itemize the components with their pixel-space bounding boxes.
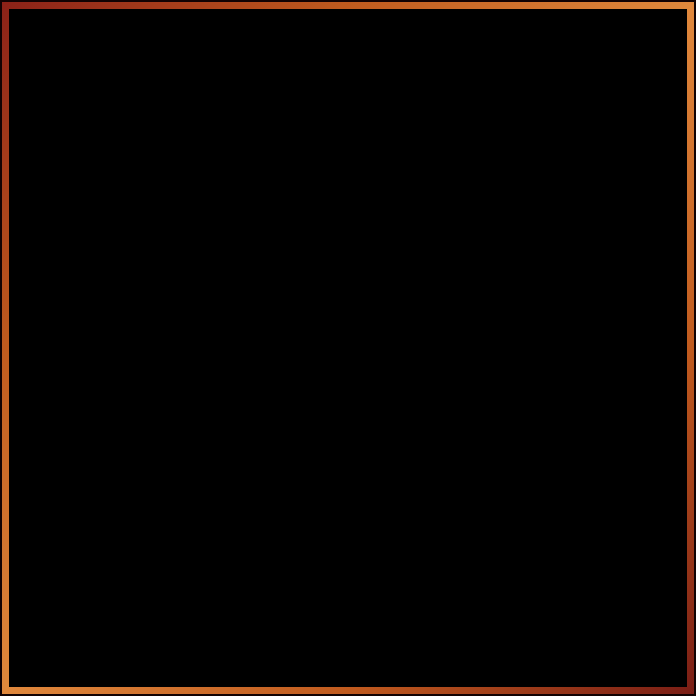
body-line: dust of defeat and give up the bbox=[28, 207, 676, 261]
body-line: You can remain sitting there in bbox=[28, 99, 676, 153]
footer-content: 1 Cor. 15:58 www.billkochman.com bbox=[28, 631, 598, 675]
footer-bar: 1 Cor. 15:58 www.billkochman.com bbox=[9, 625, 687, 687]
call-to-action-text: Fight, soldier! bbox=[28, 545, 252, 591]
website-url[interactable]: www.billkochman.com bbox=[248, 631, 598, 675]
meme-poster: WHAT ARE YOU GOING TO DO? You can remain… bbox=[0, 0, 696, 696]
body-line: Grace and march bbox=[28, 369, 676, 423]
body-line: again. So which bbox=[28, 423, 676, 477]
poster-canvas: WHAT ARE YOU GOING TO DO? You can remain… bbox=[9, 9, 687, 687]
scripture-reference: 1 Cor. 15:58 bbox=[28, 631, 222, 675]
body-line: fight. Or you can get bbox=[28, 261, 676, 315]
page-title: WHAT ARE YOU GOING TO DO? bbox=[28, 28, 668, 72]
body-text: You can remain sitting there in your bac… bbox=[28, 99, 676, 531]
body-line: will it be solider? bbox=[28, 477, 676, 531]
body-line: back up by God’s bbox=[28, 315, 676, 369]
body-line: your backslidden condition in the bbox=[28, 153, 676, 207]
